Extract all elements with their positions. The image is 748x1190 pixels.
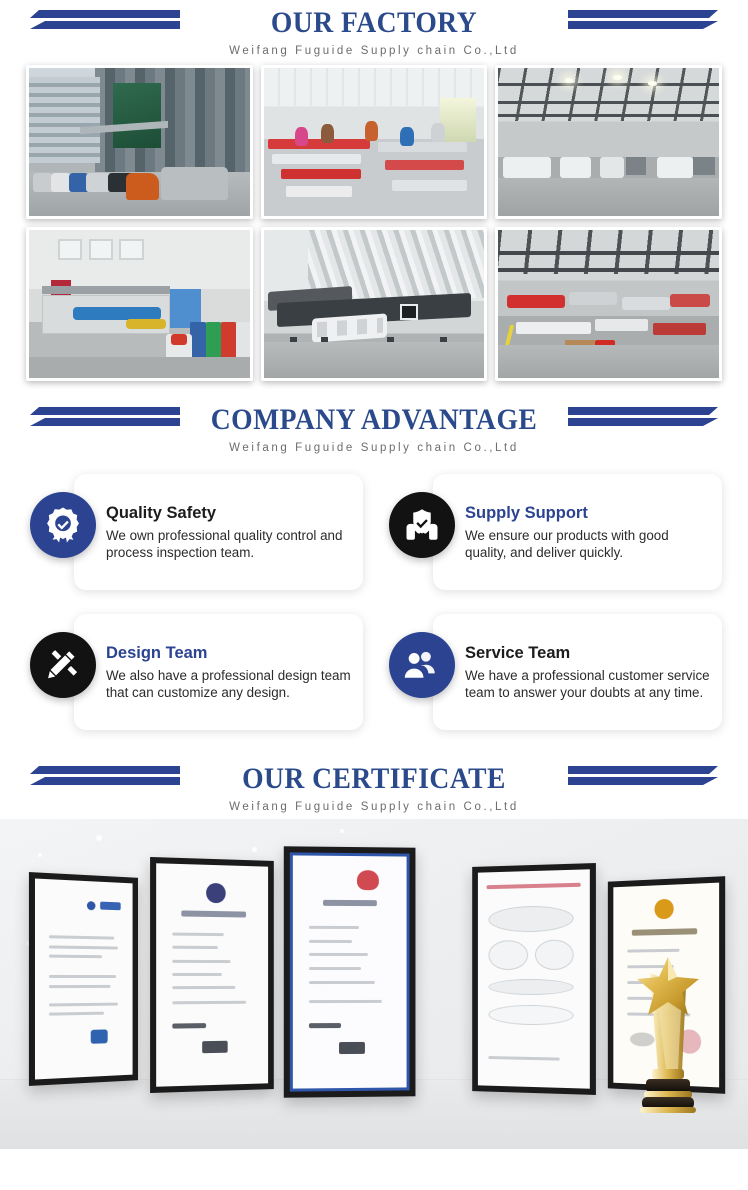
section-header-factory: OUR FACTORY Weifang Fuguide Supply chain…	[0, 0, 748, 57]
factory-photo-4	[26, 227, 253, 381]
card-description: We also have a professional design team …	[106, 667, 353, 701]
certificate-frame-2	[150, 857, 274, 1093]
card-description: We have a professional customer service …	[465, 667, 712, 701]
hands-shield-icon	[389, 492, 455, 558]
section-header-advantage: COMPANY ADVANTAGE Weifang Fuguide Supply…	[0, 381, 748, 454]
certificate-display	[0, 819, 748, 1149]
factory-photo-6	[495, 227, 722, 381]
quality-badge-icon	[30, 492, 96, 558]
advantage-card-supply-support[interactable]: Supply Support We ensure our products wi…	[385, 468, 722, 596]
card-description: We ensure our products with good quality…	[465, 527, 712, 561]
factory-photo-3	[495, 65, 722, 219]
page-title-advantage: COMPANY ADVANTAGE	[30, 403, 718, 437]
factory-photo-2	[261, 65, 488, 219]
certificate-frame-4	[472, 863, 596, 1095]
pencil-ruler-icon	[30, 632, 96, 698]
award-trophy	[620, 951, 716, 1115]
advantage-card-design-team[interactable]: Design Team We also have a professional …	[26, 608, 363, 736]
certificate-frame-3	[284, 846, 416, 1097]
card-text-block: Quality Safety We own professional quali…	[92, 503, 363, 561]
card-text-block: Service Team We have a professional cust…	[451, 643, 722, 701]
factory-photo-grid	[0, 65, 748, 381]
advantage-card-quality-safety[interactable]: Quality Safety We own professional quali…	[26, 468, 363, 596]
factory-photo-1	[26, 65, 253, 219]
advantage-card-service-team[interactable]: Service Team We have a professional cust…	[385, 608, 722, 736]
people-group-icon	[389, 632, 455, 698]
factory-photo-5	[261, 227, 488, 381]
section-header-certificate: OUR CERTIFICATE Weifang Fuguide Supply c…	[0, 736, 748, 813]
card-title: Quality Safety	[106, 503, 353, 523]
card-text-block: Supply Support We ensure our products wi…	[451, 503, 722, 561]
card-title: Service Team	[465, 643, 712, 663]
card-text-block: Design Team We also have a professional …	[92, 643, 363, 701]
card-title: Design Team	[106, 643, 353, 663]
certificate-frame-1	[29, 872, 138, 1086]
company-name-factory: Weifang Fuguide Supply chain Co.,Ltd	[0, 45, 748, 57]
company-profile-page: OUR FACTORY Weifang Fuguide Supply chain…	[0, 0, 748, 1190]
company-name-advantage: Weifang Fuguide Supply chain Co.,Ltd	[0, 442, 748, 454]
card-title: Supply Support	[465, 503, 712, 523]
page-title-factory: OUR FACTORY	[30, 6, 718, 40]
card-description: We own professional quality control and …	[106, 527, 353, 561]
company-name-certificate: Weifang Fuguide Supply chain Co.,Ltd	[0, 801, 748, 813]
page-title-certificate: OUR CERTIFICATE	[30, 762, 718, 796]
advantage-card-grid: Quality Safety We own professional quali…	[0, 454, 748, 736]
